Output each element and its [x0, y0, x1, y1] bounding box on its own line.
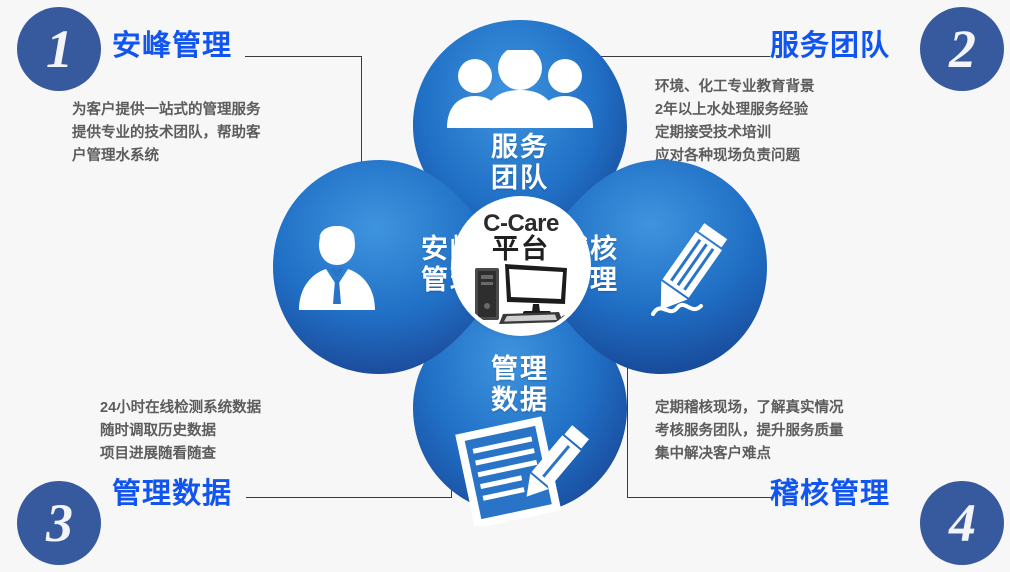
petal-top-label: 服务 团队: [460, 132, 580, 194]
badge-number-1: 1: [17, 7, 101, 91]
section-title-1: 安峰管理: [112, 22, 232, 64]
businessman-icon: [295, 224, 379, 315]
petal-top-label-line-1: 服务: [460, 132, 580, 163]
section-title-4: 稽核管理: [770, 470, 890, 512]
section-body-3: 24小时在线检测系统数据 随时调取历史数据 项目进展随看随查: [100, 397, 261, 466]
infographic-canvas: 1 2 3 4 安峰管理 服务团队 管理数据 稽核管理 为客户提供一站式的管理服…: [0, 0, 1010, 572]
badge-number-1-label: 1: [46, 22, 72, 76]
desktop-computer-icon: [473, 262, 571, 331]
petal-bottom-label-line-1: 管理: [460, 354, 580, 385]
people-group-icon: [435, 50, 605, 133]
section-body-1: 为客户提供一站式的管理服务 提供专业的技术团队，帮助客 户管理水系统: [72, 99, 261, 168]
section-body-3-line-1: 24小时在线检测系统数据: [100, 397, 261, 420]
hub-title: C-Care: [455, 211, 587, 236]
pencil-signature-icon: [645, 220, 737, 335]
document-pencil-icon: [450, 414, 590, 531]
badge-number-2-label: 2: [949, 22, 975, 76]
section-title-2: 服务团队: [770, 22, 890, 64]
section-body-1-line-1: 为客户提供一站式的管理服务: [72, 99, 261, 122]
badge-number-3-label: 3: [46, 496, 72, 550]
section-body-3-line-2: 随时调取历史数据: [100, 420, 261, 443]
section-title-3: 管理数据: [112, 470, 232, 512]
petal-bottom-label-line-2: 数据: [460, 385, 580, 416]
section-body-3-line-3: 项目进展随看随查: [100, 443, 261, 466]
badge-number-2: 2: [920, 7, 1004, 91]
section-body-1-line-2: 提供专业的技术团队，帮助客: [72, 122, 261, 145]
badge-number-4-label: 4: [949, 496, 975, 550]
center-hub: C-Care 平台: [455, 200, 587, 332]
flower-diagram: 服务 团队 安峰 管理 稽核 管理: [255, 2, 785, 532]
hub-subtitle: 平台: [455, 235, 587, 263]
badge-number-4: 4: [920, 481, 1004, 565]
badge-number-3: 3: [17, 481, 101, 565]
petal-bottom-label: 管理 数据: [460, 354, 580, 416]
petal-top-label-line-2: 团队: [460, 163, 580, 194]
section-body-1-line-3: 户管理水系统: [72, 145, 261, 168]
